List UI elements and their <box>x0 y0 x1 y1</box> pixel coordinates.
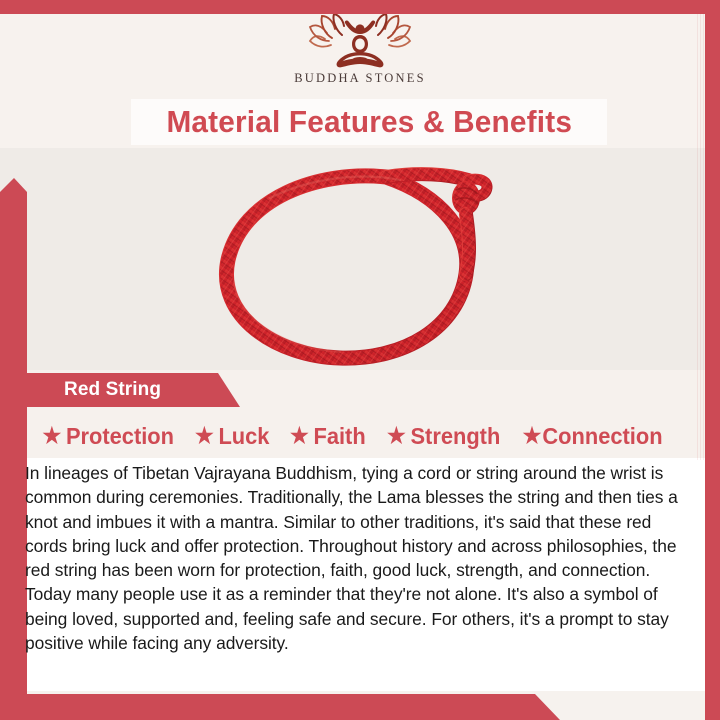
product-label: Red String <box>64 379 161 401</box>
frame-bar-bottom <box>0 694 560 720</box>
brand-wordmark: BUDDHA STONES <box>294 71 426 86</box>
keyword-label: Luck <box>219 423 270 450</box>
keyword-label: Faith <box>313 423 365 450</box>
star-icon: ★ <box>195 425 214 447</box>
keyword-label: Strength <box>410 423 500 450</box>
frame-bar-top <box>0 0 720 14</box>
title-banner: Material Features & Benefits <box>131 99 607 145</box>
product-photo <box>190 150 540 372</box>
keyword-protection: ★ Protection <box>42 423 174 450</box>
star-icon: ★ <box>42 425 61 447</box>
keyword-label: Connection <box>542 423 662 450</box>
keyword-strength: ★ Strength <box>386 423 499 450</box>
red-braided-cord-bracelet <box>190 150 540 372</box>
star-icon: ★ <box>290 425 309 447</box>
keyword-label: Protection <box>66 423 174 450</box>
infographic-page: BUDDHA STONES Material Features & Benefi… <box>0 0 720 720</box>
page-title: Material Features & Benefits <box>166 104 572 140</box>
star-icon: ★ <box>522 425 541 447</box>
keyword-luck: ★ Luck <box>195 423 270 450</box>
keyword-faith: ★ Faith <box>290 423 366 450</box>
brand-logo-block: BUDDHA STONES <box>0 14 720 98</box>
keyword-row: ★ Protection ★ Luck ★ Faith ★ Strength ★… <box>0 419 705 453</box>
lotus-meditation-figure-icon <box>304 14 416 70</box>
product-label-banner: Red String <box>0 373 240 407</box>
star-icon: ★ <box>386 425 405 447</box>
frame-bar-right <box>705 0 720 720</box>
description-paragraph: In lineages of Tibetan Vajrayana Buddhis… <box>25 461 693 655</box>
keyword-connection: ★ Connection <box>522 423 662 450</box>
